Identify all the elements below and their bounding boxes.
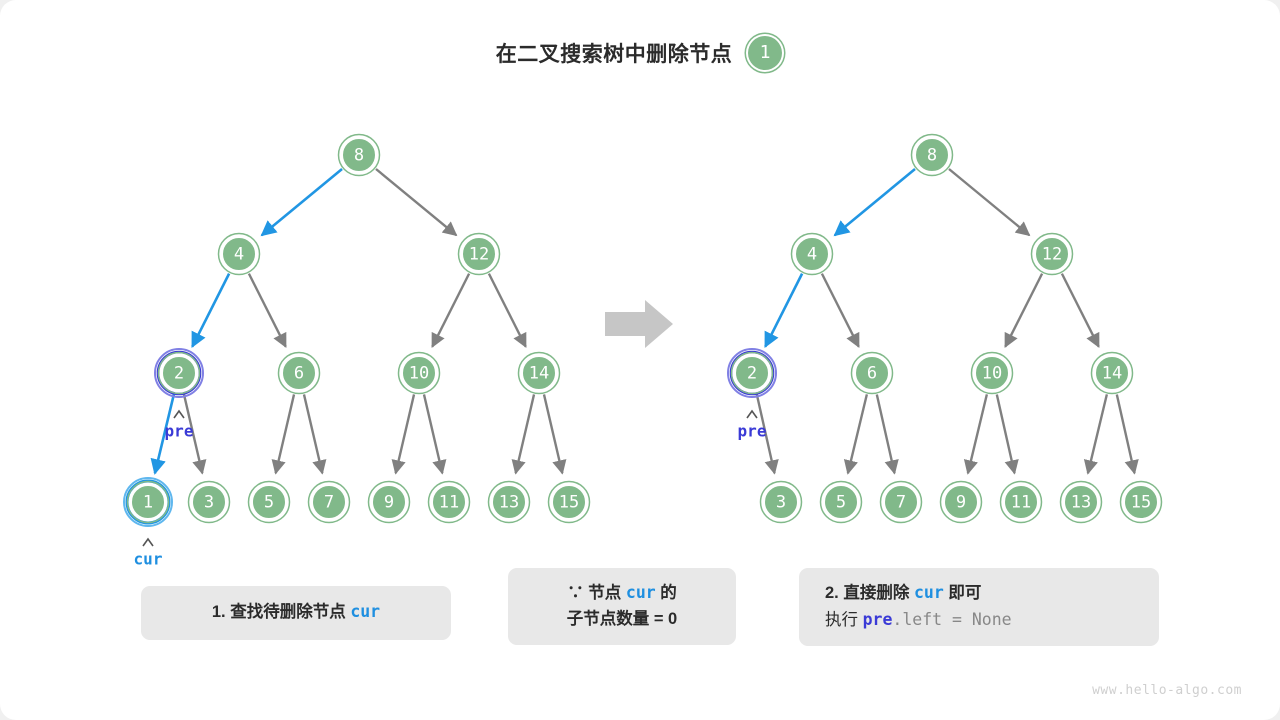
tree-node-13[interactable]: 13 (1061, 482, 1102, 523)
tree-node-4[interactable]: 4 (219, 234, 260, 275)
tree-node-14[interactable]: 14 (519, 353, 560, 394)
caption-step-2-prefix: 2. 直接删除 (825, 584, 909, 602)
tree-node-10[interactable]: 10 (972, 353, 1013, 394)
tree-node-label: 1 (143, 493, 153, 513)
tree-node-7[interactable]: 7 (881, 482, 922, 523)
tree-edge-l14-l15 (544, 394, 562, 473)
tree-node-4[interactable]: 4 (792, 234, 833, 275)
caption-step-2-suffix: 即可 (948, 584, 981, 602)
tree-edge-r8-r4 (835, 169, 915, 235)
tree-node-label: 13 (1071, 493, 1091, 513)
tree-edge-l8-l4 (262, 169, 342, 235)
tree-node-label: 7 (324, 493, 334, 513)
tree-edge-r8-r12 (949, 169, 1029, 235)
caption-reason-prefix: ∵ 节点 (567, 584, 621, 602)
tree-node-9[interactable]: 9 (369, 482, 410, 523)
tree-node-8[interactable]: 8 (339, 135, 380, 176)
right-arrow-icon (605, 300, 673, 348)
tree-edge-r12-r10 (1005, 274, 1042, 347)
tree-node-label: 12 (1042, 245, 1062, 265)
tree-node-9[interactable]: 9 (941, 482, 982, 523)
tree-node-6[interactable]: 6 (279, 353, 320, 394)
tree-node-label: 15 (559, 493, 579, 513)
tree-node-5[interactable]: 5 (249, 482, 290, 523)
tree-node-14[interactable]: 14 (1092, 353, 1133, 394)
tree-edge-r12-r14 (1062, 274, 1099, 347)
right-tree: 84122610143579111315pre (728, 135, 1162, 523)
tree-node-13[interactable]: 13 (489, 482, 530, 523)
tree-edge-r10-r11 (997, 394, 1015, 473)
transition-arrow (605, 300, 673, 348)
tree-node-label: 7 (896, 493, 906, 513)
tree-node-label: 2 (747, 364, 757, 384)
tree-edge-l6-l7 (304, 394, 322, 473)
caption-step-1-text: 1. 查找待删除节点 (212, 603, 346, 621)
tree-node-label: 4 (807, 245, 817, 265)
tree-node-label: 9 (956, 493, 966, 513)
caption-step-2-line-2: 执行 pre.left = None (825, 607, 1159, 634)
tree-node-2[interactable]: 2 (155, 349, 203, 397)
tree-node-label: 8 (354, 146, 364, 166)
tree-node-label: 9 (384, 493, 394, 513)
caption-step-2-code-rest: .left = None (892, 610, 1011, 629)
tree-node-12[interactable]: 12 (1032, 234, 1073, 275)
tree-node-label: 6 (867, 364, 877, 384)
tree-edge-l10-l9 (396, 394, 414, 473)
tree-edge-l12-l14 (489, 274, 526, 347)
tree-edge-l8-l12 (376, 169, 456, 235)
caption-step-2-code-cur: cur (914, 583, 944, 602)
tree-node-label: 4 (234, 245, 244, 265)
tree-node-label: 3 (776, 493, 786, 513)
tree-node-label: 5 (264, 493, 274, 513)
caption-reason-line-2: 子节点数量 = 0 (518, 607, 726, 633)
caption-step-2: 2. 直接删除 cur 即可 执行 pre.left = None (799, 568, 1159, 646)
tree-edge-r14-r13 (1088, 394, 1107, 473)
tree-node-11[interactable]: 11 (429, 482, 470, 523)
tree-node-label: 15 (1131, 493, 1151, 513)
tree-edge-l10-l11 (424, 394, 442, 473)
tree-node-label: 3 (204, 493, 214, 513)
caption-step-2-exec-label: 执行 (825, 611, 858, 629)
tree-node-12[interactable]: 12 (459, 234, 500, 275)
tree-node-label: 13 (499, 493, 519, 513)
tree-node-10[interactable]: 10 (399, 353, 440, 394)
tree-node-label: 14 (529, 364, 549, 384)
tree-node-label: 11 (439, 493, 459, 513)
tree-node-3[interactable]: 3 (189, 482, 230, 523)
tree-node-3[interactable]: 3 (761, 482, 802, 523)
tree-node-1[interactable]: 1 (124, 478, 172, 526)
caption-reason: ∵ 节点 cur 的 子节点数量 = 0 (508, 568, 736, 645)
tree-node-label: 14 (1102, 364, 1122, 384)
left-tree: 841226101413579111315precur (124, 135, 590, 569)
tree-edge-r10-r9 (968, 394, 987, 473)
caption-step-2-line-1: 2. 直接删除 cur 即可 (825, 580, 1159, 607)
tree-node-2[interactable]: 2 (728, 349, 776, 397)
tree-edge-l4-l6 (249, 274, 286, 347)
tree-node-label: 12 (469, 245, 489, 265)
tree-edge-l14-l13 (516, 394, 534, 473)
tree-edge-l4-l2 (192, 274, 229, 347)
tree-edge-r14-r15 (1117, 394, 1135, 473)
tree-edge-l12-l10 (432, 274, 469, 347)
pointer-text: pre (165, 422, 194, 441)
tree-node-label: 10 (409, 364, 429, 384)
tree-edge-l6-l5 (276, 394, 294, 473)
tree-node-15[interactable]: 15 (1121, 482, 1162, 523)
tree-edge-r6-r7 (877, 394, 895, 473)
pointer-label-cur: cur (134, 539, 163, 569)
pointer-text: pre (738, 422, 767, 441)
tree-node-label: 6 (294, 364, 304, 384)
tree-node-15[interactable]: 15 (549, 482, 590, 523)
pointer-text: cur (134, 550, 163, 569)
tree-node-11[interactable]: 11 (1001, 482, 1042, 523)
tree-node-5[interactable]: 5 (821, 482, 862, 523)
tree-node-label: 5 (836, 493, 846, 513)
tree-node-label: 2 (174, 364, 184, 384)
watermark: www.hello-algo.com (1092, 683, 1242, 698)
caption-step-2-code-pre: pre (863, 610, 893, 629)
caption-step-1: 1. 查找待删除节点 cur (141, 586, 451, 640)
caption-step-1-code-cur: cur (350, 602, 380, 621)
tree-node-8[interactable]: 8 (912, 135, 953, 176)
tree-node-6[interactable]: 6 (852, 353, 893, 394)
tree-edge-r4-r2 (765, 274, 802, 347)
caption-reason-suffix: 的 (660, 584, 677, 602)
tree-edge-r4-r6 (822, 274, 859, 347)
tree-node-label: 8 (927, 146, 937, 166)
tree-node-label: 11 (1011, 493, 1031, 513)
caption-reason-line-1: ∵ 节点 cur 的 (518, 580, 726, 607)
tree-node-label: 10 (982, 364, 1002, 384)
tree-node-7[interactable]: 7 (309, 482, 350, 523)
diagram-canvas: 在二叉搜索树中删除节点1 841226101413579111315precur… (0, 0, 1280, 720)
caption-reason-code-cur: cur (626, 583, 656, 602)
tree-edge-r6-r5 (848, 394, 867, 473)
